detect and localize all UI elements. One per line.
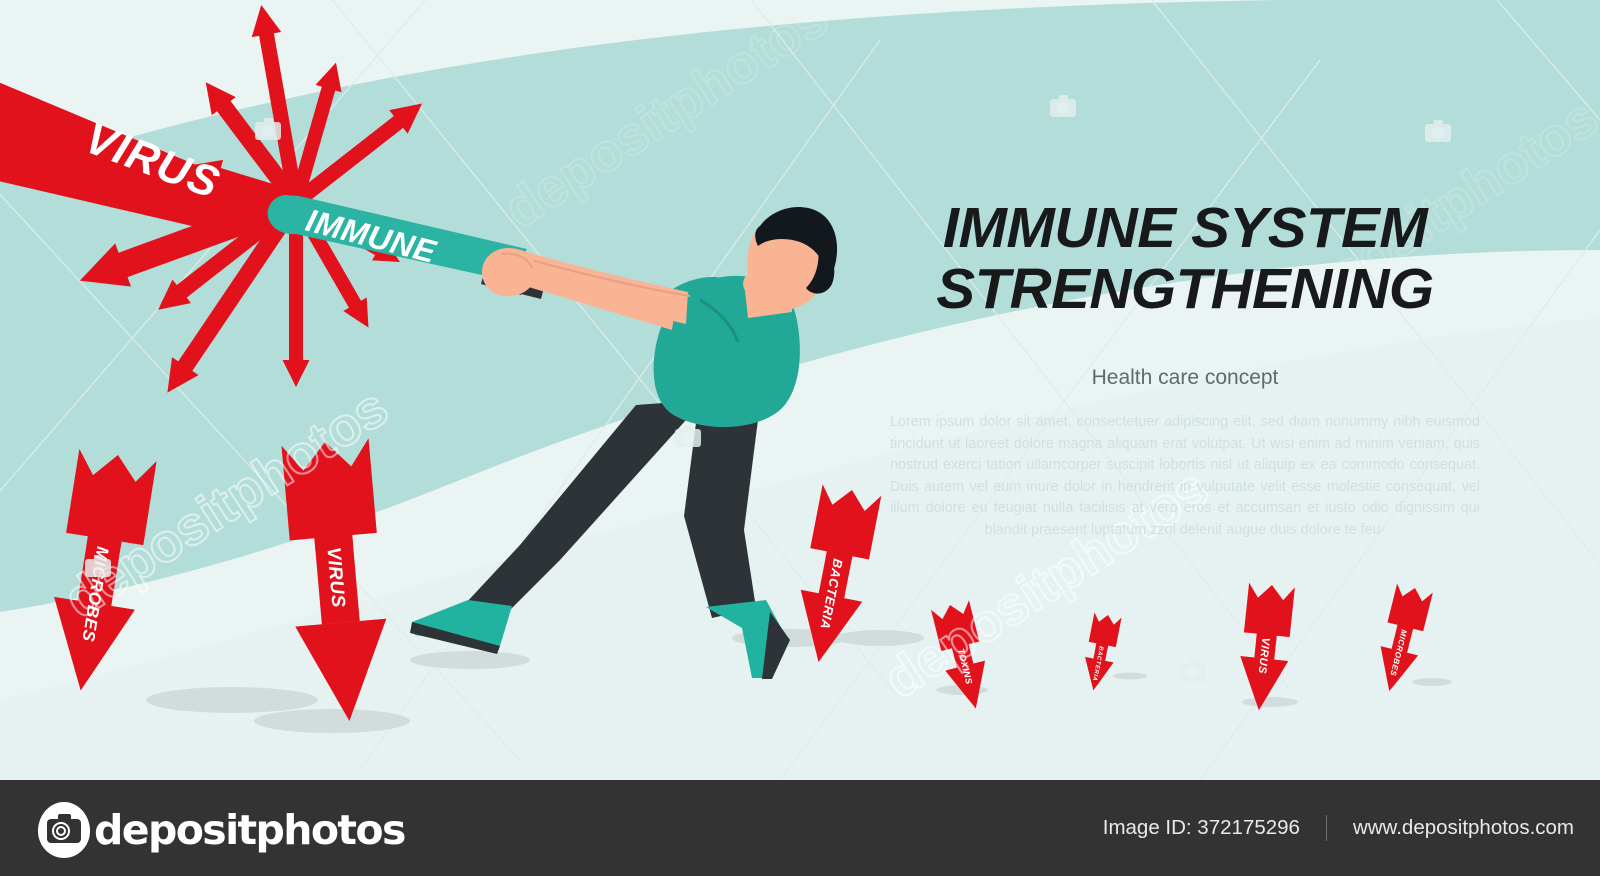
site-url[interactable]: www.depositphotos.com	[1327, 816, 1574, 840]
footer-bar: depositphotos Image ID: 372175296 www.de…	[0, 780, 1600, 876]
image-id-label: Image ID: 372175296	[1103, 816, 1326, 840]
illustration-canvas: VIRUS IMMUNE	[0, 0, 1600, 876]
hand-fist	[482, 248, 536, 296]
brand-name: depositphotos	[94, 806, 405, 854]
camera-icon	[38, 802, 90, 858]
vector-illustration: VIRUS IMMUNE	[0, 0, 1600, 780]
depositphotos-logo[interactable]: depositphotos	[38, 802, 405, 858]
footer-meta: Image ID: 372175296 www.depositphotos.co…	[1103, 780, 1574, 876]
